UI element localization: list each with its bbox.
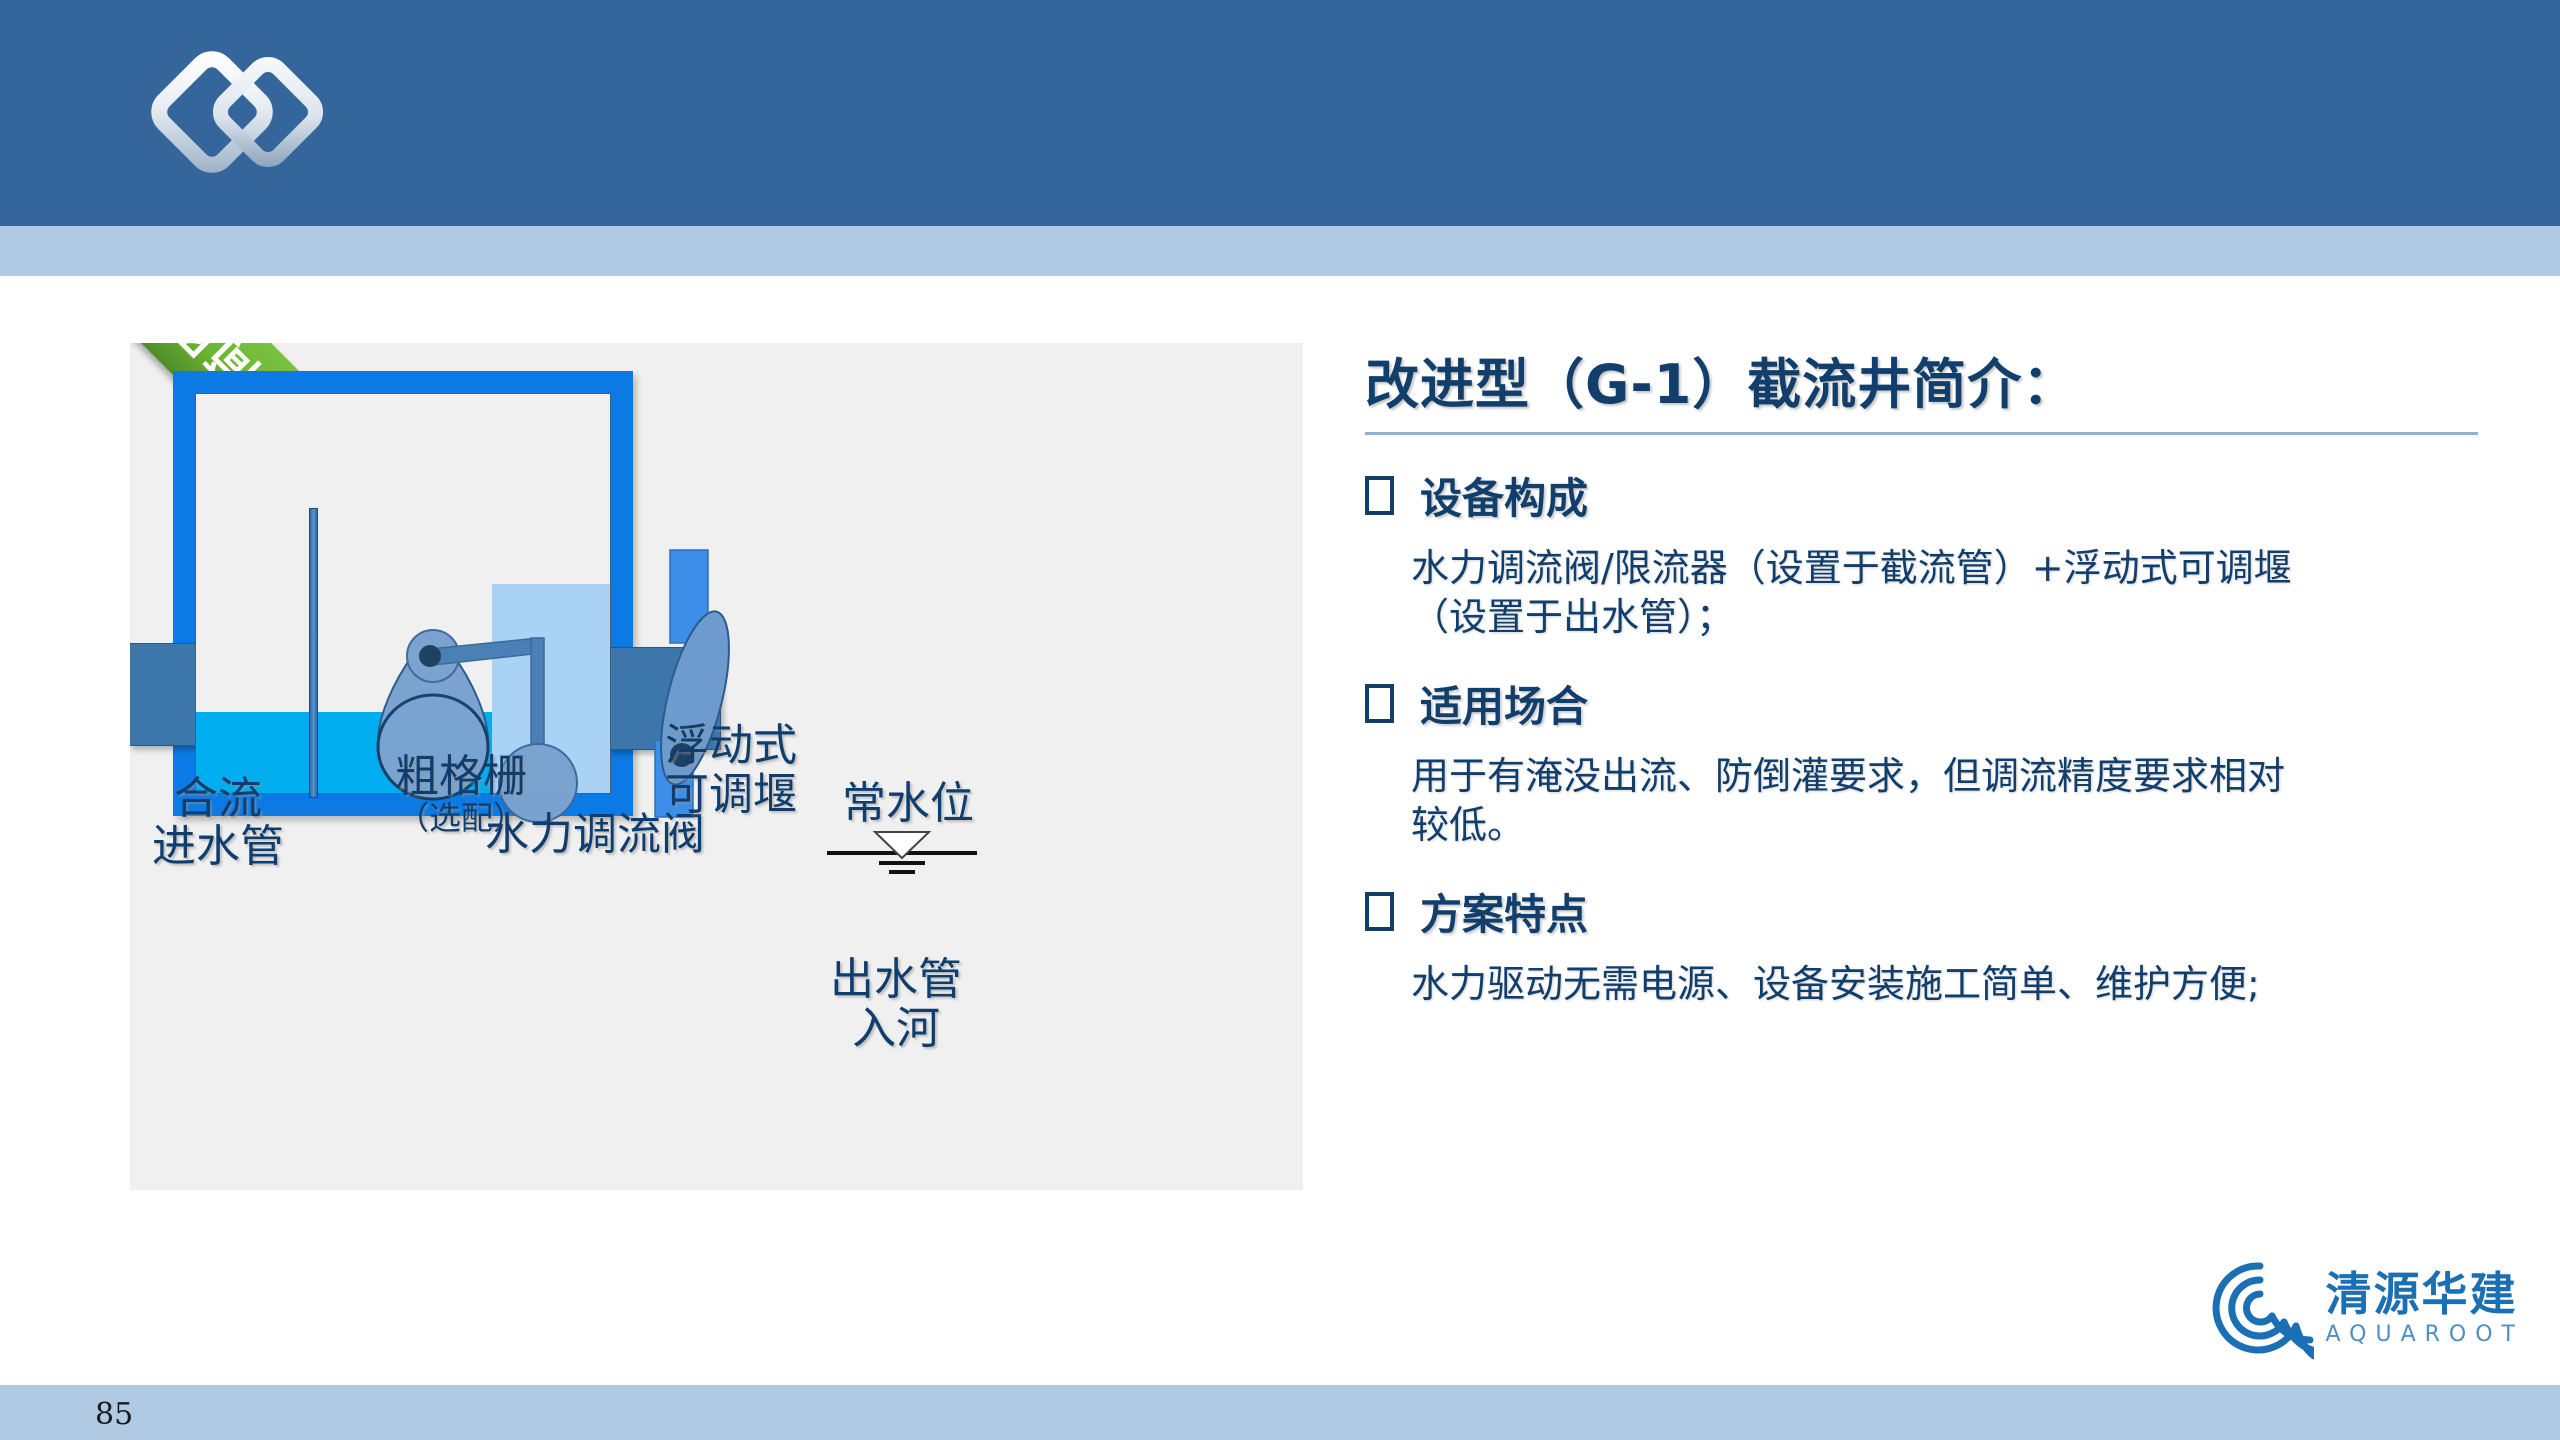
coarse-screen-bar [309,508,318,798]
content-column: 改进型（G-1）截流井简介： 设备构成 水力调流阀/限流器（设置于截流管）+浮动… [1365,340,2525,1009]
water-level-symbol-icon [827,830,977,880]
section-body: 用于有淹没出流、防倒灌要求，但调流精度要求相对 较低。 [1411,752,2525,851]
footer-band [0,1385,2560,1440]
section-body: 水力调流阀/限流器（设置于截流管）+浮动式可调堰 （设置于出水管）； [1411,544,2525,643]
aquaroot-spiral-icon [2206,1254,2314,1362]
interlocking-squares-logo [150,48,350,178]
bullet-square-icon [1365,892,1394,931]
section-equipment: 设备构成 水力调流阀/限流器（设置于截流管）+浮动式可调堰 （设置于出水管）； [1365,465,2525,643]
header-band-dark [0,0,2560,226]
title-divider [1365,432,2478,435]
well-interior [195,393,611,794]
header-band-light [0,226,2560,276]
page-title: 改进型（G-1）截流井简介： [1365,340,2525,419]
section-body: 水力驱动无需电源、设备安装施工简单、维护方便; [1411,960,2525,1009]
brand-name-en: AQUAROOT [2326,1324,2525,1346]
label-water-level: 常水位 [842,780,974,828]
section-heading: 适用场合 [1420,673,1588,734]
page-number: 85 [95,1397,133,1432]
interception-well-structure [173,371,633,816]
brand-name-cn: 清源华建 [2326,1271,2525,1317]
section-features: 方案特点 水力驱动无需电源、设备安装施工简单、维护方便; [1365,881,2525,1009]
label-inlet-pipe: 合流 进水管 [152,775,284,870]
section-heading: 方案特点 [1420,881,1588,942]
company-logo: 清源华建 AQUAROOT [2206,1254,2525,1362]
section-heading: 设备构成 [1420,465,1588,526]
label-outlet-pipe: 出水管 入河 [830,955,962,1054]
bullet-square-icon [1365,684,1394,723]
schematic-diagram-panel: 简图 [130,343,1303,1190]
section-application: 适用场合 用于有淹没出流、防倒灌要求，但调流精度要求相对 较低。 [1365,673,2525,851]
bullet-square-icon [1365,476,1394,515]
label-floating-weir: 浮动式 可调堰 [665,721,797,820]
